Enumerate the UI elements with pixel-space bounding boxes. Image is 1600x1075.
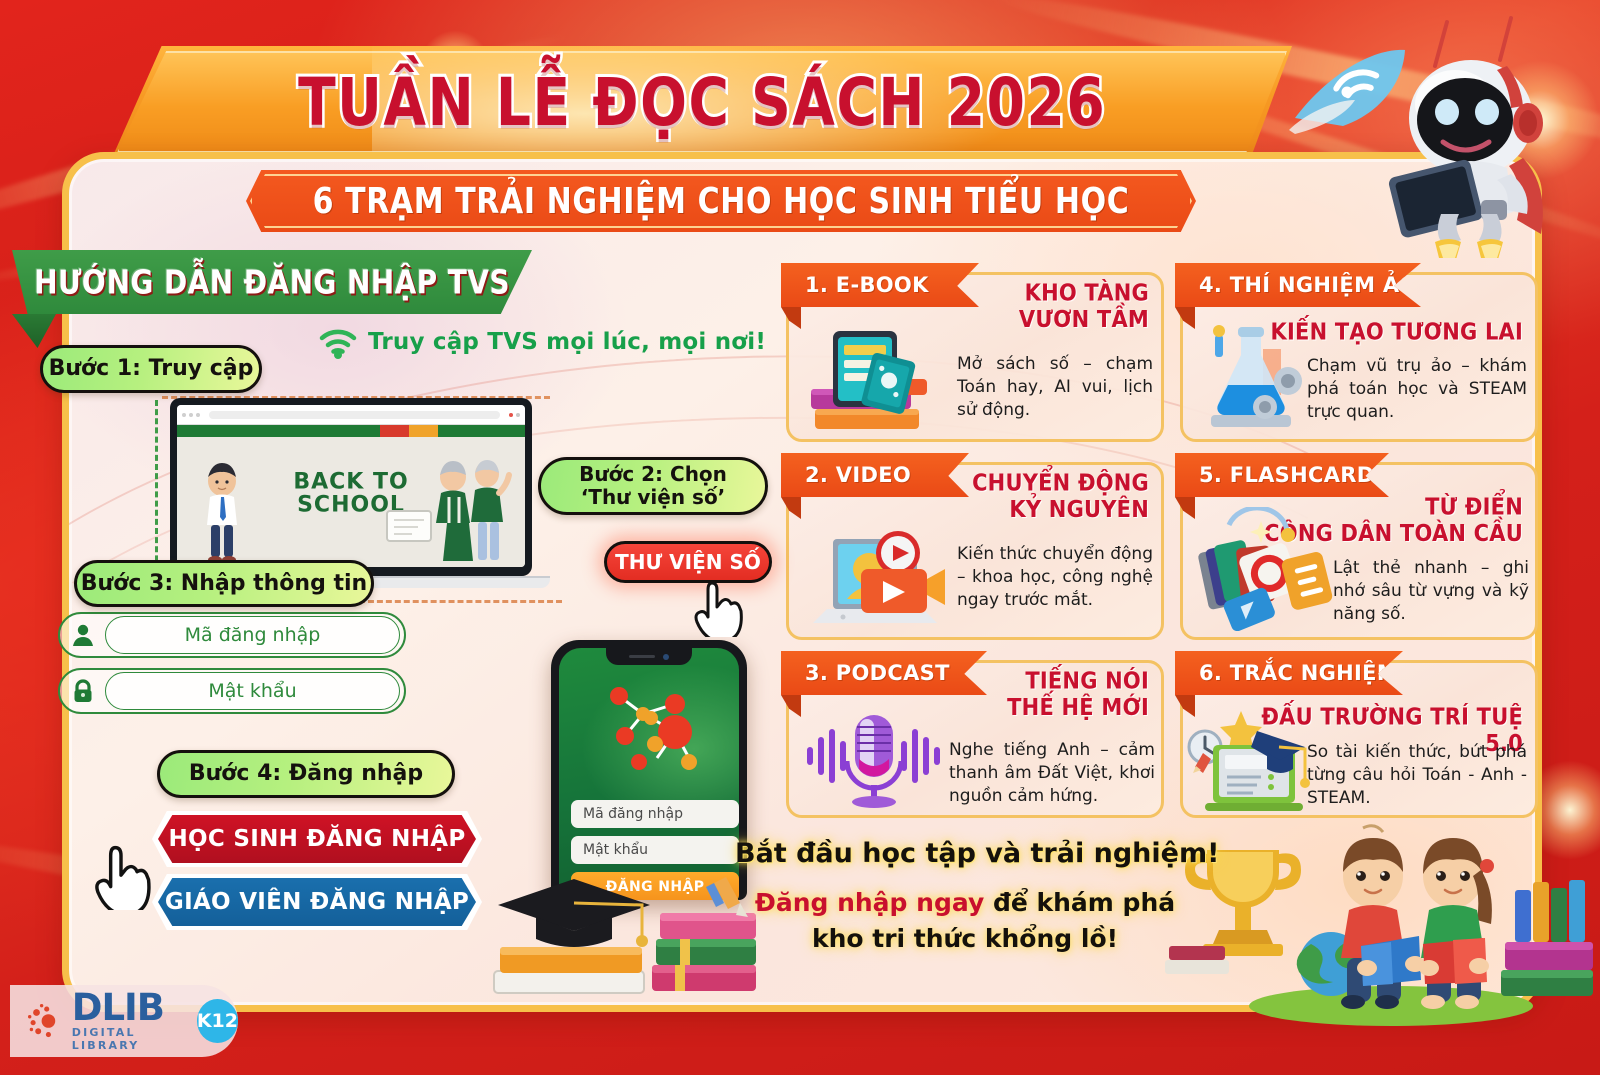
phone-username-placeholder: Mã đăng nhập [583, 806, 683, 822]
thu-vien-so-button[interactable]: THƯ VIỆN SỐ [604, 541, 772, 583]
station-3-title-line2: THẾ HỆ MỚI [959, 695, 1149, 721]
station-2-number-label: 2. VIDEO [805, 463, 911, 487]
station-3-description: Nghe tiếng Anh – cảm thanh âm Đất Việt, … [949, 739, 1155, 807]
browser-dot [509, 413, 513, 417]
station-5-ribbon: 5. FLASHCARD [1175, 453, 1389, 497]
student-login-button[interactable]: HỌC SINH ĐĂNG NHẬP [158, 815, 476, 863]
video-play-laptop-icon [803, 513, 949, 631]
station-2-title-line2: KỶ NGUYÊN [935, 497, 1149, 523]
phone-notch [606, 648, 692, 665]
station-4-ribbon: 4. THÍ NGHIỆM ẢO [1175, 263, 1421, 307]
quiz-graduation-icon [1187, 705, 1315, 817]
dlib-logo: DLIB DIGITAL LIBRARY K12 [10, 985, 238, 1057]
station-2-description: Kiến thức chuyển động – khoa học, công n… [957, 543, 1153, 611]
station-6-description: So tài kiến thức, bứt phá từng câu hỏi T… [1307, 741, 1527, 809]
station-3-title: TIẾNG NÓI THẾ HỆ MỚI [959, 669, 1149, 721]
logo-tagline: DIGITAL LIBRARY [72, 1026, 189, 1052]
station-1-number-label: 1. E-BOOK [805, 273, 929, 297]
phone-speaker [629, 655, 655, 658]
flask-beaker-icon [1193, 323, 1309, 429]
guide-section-title: HƯỚNG DẪN ĐĂNG NHẬP TVS [34, 263, 510, 302]
bottom-cta: Bắt đầu học tập và trải nghiệm! Đăng nhậ… [735, 838, 1195, 956]
navbar-seg [380, 425, 409, 437]
browser-viewport: BACK TO SCHOOL [177, 405, 525, 567]
site-hero: BACK TO SCHOOL [177, 437, 525, 567]
station-3-title-line1: TIẾNG NÓI [959, 669, 1149, 695]
step-pill-2: Bước 2: Chọn ‘Thư viện số’ [538, 457, 768, 515]
robot-mascot-icon [1285, 8, 1600, 258]
station-1-description: Mở sách số – chạm Toán hay, AI vui, lịch… [957, 353, 1153, 421]
station-2-title: CHUYỂN ĐỘNG KỶ NGUYÊN [935, 471, 1149, 523]
station-1-title-line2: VƯƠN TẦM [949, 307, 1149, 333]
browser-toolbar [177, 405, 525, 425]
browser-dot [182, 413, 186, 417]
password-field-row[interactable]: Mật khẩu [58, 668, 406, 714]
station-card-4: 4. THÍ NGHIỆM ẢO KIẾN TẠO TƯƠNG LAI Chạm… [1180, 272, 1538, 442]
cta-highlight: Đăng nhập ngay [755, 888, 984, 917]
ebook-tablet-books-icon [801, 323, 941, 435]
student-login-label: HỌC SINH ĐĂNG NHẬP [168, 826, 465, 852]
wifi-icon [318, 325, 358, 359]
password-input[interactable]: Mật khẩu [105, 672, 400, 710]
station-4-number-label: 4. THÍ NGHIỆM ẢO [1199, 273, 1418, 297]
teacher-login-button[interactable]: GIÁO VIÊN ĐĂNG NHẬP [158, 878, 476, 926]
step-1-label: Bước 1: Truy cập [49, 356, 254, 381]
station-card-2: 2. VIDEO CHUYỂN ĐỘNG KỶ NGUYÊN Kiến thức… [786, 462, 1164, 640]
logo-name: DLIB [72, 990, 189, 1025]
poster-root: TUẦN LỄ ĐỌC SÁCH 2026 [0, 0, 1600, 1075]
navbar-seg [177, 425, 380, 437]
browser-url-bar[interactable] [209, 411, 500, 419]
username-field-row[interactable]: Mã đăng nhập [58, 612, 406, 658]
step-2-label-line1: Bước 2: Chọn [579, 463, 727, 486]
cta-rest: để khám phá [984, 888, 1175, 917]
navbar-seg [409, 425, 438, 437]
station-card-3: 3. PODCAST TIẾNG NÓI THẾ HỆ MỚI Nghe tiế… [786, 660, 1164, 818]
graduation-cap-books-icon [470, 845, 760, 1025]
dlib-dots-icon [28, 999, 64, 1043]
browser-dot [196, 413, 200, 417]
subtitle-text: 6 TRẠM TRẢI NGHIỆM CHO HỌC SINH TIỂU HỌC [313, 180, 1130, 222]
station-1-title-line1: KHO TÀNG [949, 281, 1149, 307]
hero-headline-line1: BACK TO [293, 472, 408, 494]
hand-cursor-icon [690, 575, 744, 637]
step-2-label-line2: ‘Thư viện số’ [579, 486, 727, 509]
teacher-login-label: GIÁO VIÊN ĐĂNG NHẬP [165, 889, 469, 915]
flashcards-icon [1191, 507, 1337, 631]
page-title: TUẦN LỄ ĐỌC SÁCH 2026 [298, 64, 1106, 141]
username-input[interactable]: Mã đăng nhập [105, 616, 400, 654]
step-4-label: Bước 4: Đăng nhập [189, 761, 423, 786]
hand-cursor-icon [90, 838, 152, 910]
guide-section-header: HƯỚNG DẪN ĐĂNG NHẬP TVS [12, 250, 532, 314]
step-pill-1: Bước 1: Truy cập [40, 345, 262, 393]
browser-dot [516, 413, 520, 417]
station-4-description: Chạm vũ trụ ảo – khám phá toán học và ST… [1307, 355, 1527, 423]
boy-reading [1341, 838, 1425, 1009]
station-card-6: 6. TRẮC NGHIỆM ĐẤU TRƯỜNG TRÍ TUỆ 5.0 So… [1180, 660, 1538, 818]
laptop-screen: BACK TO SCHOOL [170, 398, 532, 576]
navbar-seg [438, 425, 525, 437]
station-5-number-label: 5. FLASHCARD [1199, 463, 1374, 487]
wifi-tagline: Truy cập TVS mọi lúc, mọi nơi! [318, 325, 766, 359]
rocket-wifi-icon [1289, 50, 1405, 134]
step-3-label: Bước 3: Nhập thông tin [81, 571, 367, 596]
station-6-ribbon: 6. TRẮC NGHIỆM [1175, 651, 1403, 695]
lock-icon [65, 673, 101, 709]
station-2-title-line1: CHUYỂN ĐỘNG [935, 471, 1149, 497]
station-5-description: Lật thẻ nhanh – ghi nhớ sâu từ vựng và k… [1333, 557, 1529, 625]
browser-dot [189, 413, 193, 417]
title-banner: TUẦN LỄ ĐỌC SÁCH 2026 [112, 46, 1292, 158]
teachers-illustration [425, 457, 513, 565]
cta-line-2: Đăng nhập ngay để khám phá kho tri thức … [735, 885, 1195, 956]
station-6-number-label: 6. TRẮC NGHIỆM [1199, 661, 1398, 685]
station-3-number-label: 3. PODCAST [805, 661, 950, 685]
logo-k12-badge: K12 [197, 999, 238, 1043]
cta-line-1: Bắt đầu học tập và trải nghiệm! [735, 838, 1195, 869]
podcast-microphone-icon [801, 707, 947, 811]
dlib-molecule-logo-icon [591, 674, 707, 782]
student-boy-illustration [191, 461, 253, 565]
station-card-1: 1. E-BOOK KHO TÀNG VƯƠN TẦM Mở sách số –… [786, 272, 1164, 442]
logo-text-block: DLIB DIGITAL LIBRARY [72, 990, 189, 1051]
site-navbar [177, 425, 525, 437]
subtitle-ribbon: 6 TRẠM TRẢI NGHIỆM CHO HỌC SINH TIỂU HỌC [246, 170, 1196, 232]
phone-username-input[interactable]: Mã đăng nhập [571, 800, 739, 828]
cta-line-3: kho tri thức khổng lồ! [812, 924, 1118, 953]
user-icon [65, 617, 101, 653]
step-pill-3: Bước 3: Nhập thông tin [74, 560, 374, 607]
notebook-doodle-icon [383, 507, 435, 545]
station-1-title: KHO TÀNG VƯƠN TẦM [949, 281, 1149, 333]
girl-reading [1419, 838, 1494, 1009]
thu-vien-so-label: THƯ VIỆN SỐ [615, 550, 761, 574]
station-card-5: 5. FLASHCARD TỪ ĐIỂN CÔNG DÂN TOÀN CẦU L… [1180, 462, 1538, 640]
kids-reading-icon [1165, 818, 1595, 1026]
step-pill-4: Bước 4: Đăng nhập [157, 750, 455, 798]
phone-camera [663, 654, 669, 660]
station-3-ribbon: 3. PODCAST [781, 651, 987, 695]
wifi-tagline-text: Truy cập TVS mọi lúc, mọi nơi! [368, 329, 766, 355]
green-header-fold [12, 314, 56, 348]
